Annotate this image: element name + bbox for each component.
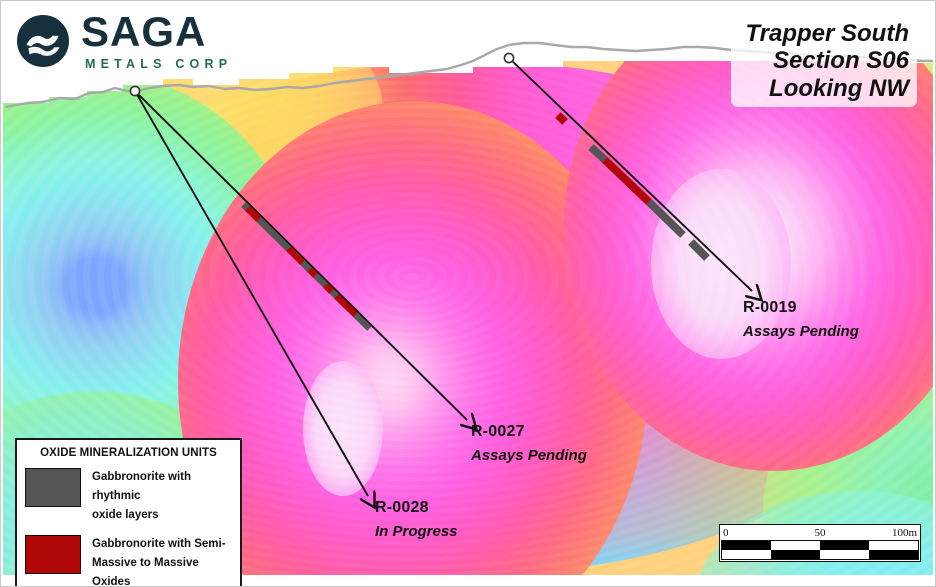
- legend-label-grey-line2: oxide layers: [92, 506, 232, 525]
- title-line-1: Trapper South: [745, 20, 909, 47]
- scale-cell: [722, 550, 771, 559]
- saga-logo-mark: [17, 15, 69, 67]
- collar-marker-r0019[interactable]: [504, 53, 513, 62]
- scale-label-end: 100m: [892, 526, 917, 540]
- trace-line-overlay-r0027: [135, 91, 467, 420]
- drill-label-r0027: R-0027 Assays Pending: [471, 423, 587, 464]
- legend-label-red-line1: Gabbronorite with Semi-: [92, 535, 232, 554]
- legend-label-grey-line1: Gabbronorite with rhythmic: [92, 468, 232, 506]
- legend-item-massive-oxide: Gabbronorite with Semi- Massive to Massi…: [25, 535, 232, 587]
- drill-trace-r0019: [509, 58, 752, 291]
- scale-cell: [722, 541, 771, 550]
- cross-section-figure: SAGA METALS CORP Trapper South Section S…: [0, 0, 936, 587]
- scale-cell: [771, 541, 820, 550]
- scale-cell: [771, 550, 820, 559]
- scale-bar-row-bottom: [722, 550, 918, 559]
- trace-line-overlay-r0019: [509, 58, 752, 291]
- drill-status-r0019: Assays Pending: [743, 323, 859, 340]
- drill-id-r0019: R-0019: [743, 299, 859, 317]
- legend-swatch-grey: [25, 468, 81, 507]
- interval-red-r0019-1: [558, 115, 565, 122]
- drill-id-r0027: R-0027: [471, 423, 587, 441]
- brand-tagline: METALS CORP: [85, 58, 232, 71]
- drill-id-r0028: R-0028: [375, 499, 458, 517]
- interval-grey-r0019-2: [649, 202, 683, 235]
- saga-logo: SAGA METALS CORP: [17, 11, 232, 71]
- legend-swatch-red: [25, 535, 81, 574]
- drill-status-r0027: Assays Pending: [471, 447, 587, 464]
- title-line-3: Looking NW: [745, 75, 909, 102]
- scale-cell: [869, 541, 918, 550]
- scale-label-mid: 50: [815, 526, 826, 540]
- legend-label-red-line2: Massive to Massive Oxides: [92, 554, 232, 587]
- legend-label-red: Gabbronorite with Semi- Massive to Massi…: [92, 535, 232, 587]
- scale-bar-row-top: [722, 541, 918, 550]
- drill-trace-r0027: [135, 91, 467, 420]
- scale-cell: [820, 541, 869, 550]
- collar-marker-r0027-r0028[interactable]: [130, 86, 139, 95]
- scale-bar: 0 50 100m: [719, 524, 921, 562]
- legend-label-grey: Gabbronorite with rhythmic oxide layers: [92, 468, 232, 525]
- scale-bar-bars: [721, 540, 919, 560]
- scale-bar-labels: 0 50 100m: [721, 526, 919, 540]
- legend-box: OXIDE MINERALIZATION UNITS Gabbronorite …: [15, 438, 242, 587]
- scale-cell: [869, 550, 918, 559]
- saga-logo-wordmark: SAGA METALS CORP: [81, 11, 232, 71]
- interval-red-r0027-5: [337, 296, 356, 314]
- scale-label-start: 0: [723, 526, 729, 540]
- interval-red-r0027-1: [248, 208, 259, 219]
- drill-status-r0028: In Progress: [375, 523, 458, 540]
- legend-title: OXIDE MINERALIZATION UNITS: [25, 447, 232, 459]
- figure-title: Trapper South Section S06 Looking NW: [731, 17, 917, 107]
- drill-label-r0019: R-0019 Assays Pending: [743, 299, 859, 340]
- drill-label-r0028: R-0028 In Progress: [375, 499, 458, 540]
- brand-name: SAGA: [81, 11, 232, 53]
- legend-item-rhythmic-oxide: Gabbronorite with rhythmic oxide layers: [25, 468, 232, 525]
- interval-red-r0019-2: [605, 160, 649, 202]
- scale-cell: [820, 550, 869, 559]
- title-line-2: Section S06: [745, 47, 909, 74]
